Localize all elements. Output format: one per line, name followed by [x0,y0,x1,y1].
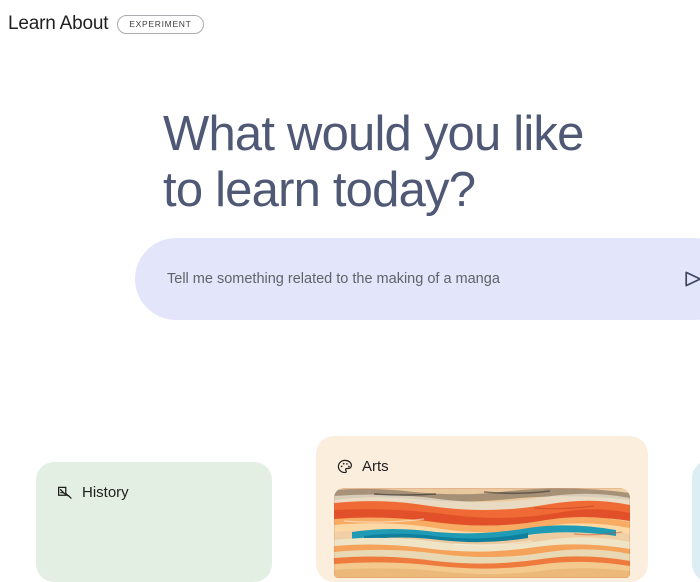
prompt-bar[interactable] [135,238,700,320]
hero-section: What would you like to learn today? [163,106,683,218]
topic-card-next[interactable] [692,460,700,582]
card-label: History [82,484,129,502]
experiment-badge: EXPERIMENT [117,15,203,34]
topic-card-arts[interactable]: Arts [316,436,648,582]
card-header: Arts [316,436,648,476]
search-input[interactable] [167,269,671,289]
page-title: What would you like to learn today? [163,106,683,218]
app-title: Learn About [8,12,108,36]
history-edu-icon [56,484,74,502]
card-artwork-image [334,488,630,578]
send-button[interactable] [671,257,700,301]
app-header: Learn About EXPERIMENT [8,12,204,36]
card-label: Arts [362,458,389,476]
send-icon [683,269,700,289]
card-header: History [36,462,272,502]
palette-icon [336,458,354,476]
topic-cards-row: History Arts [0,430,700,525]
topic-card-history[interactable]: History [36,462,272,582]
